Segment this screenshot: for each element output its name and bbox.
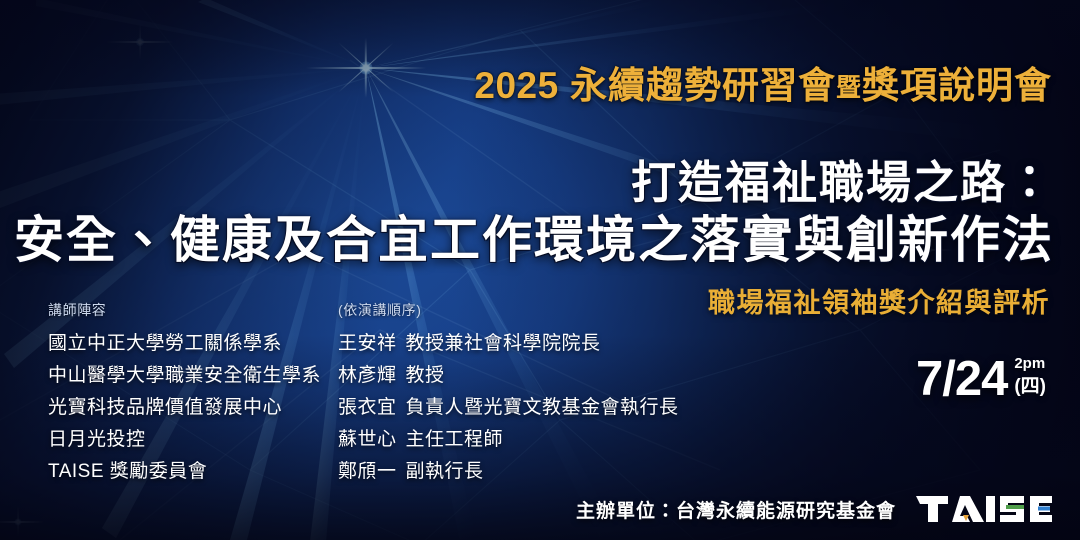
event-weekday: (四) bbox=[1014, 376, 1046, 398]
event-date: 7/24 bbox=[916, 355, 1007, 404]
roster-person-title: 教授兼社會科學院院長 bbox=[406, 333, 601, 354]
roster-org: TAISE 獎勵委員會 bbox=[48, 456, 338, 483]
roster-person-name: 張衣宜 bbox=[338, 397, 397, 418]
roster-person-title: 負責人暨光寶文教基金會執行長 bbox=[406, 397, 679, 418]
roster-person-name: 林彥輝 bbox=[338, 365, 397, 386]
roster-rows: 國立中正大學勞工關係學系 王安祥教授兼社會科學院院長 中山醫學大學職業安全衛生學… bbox=[48, 328, 748, 488]
footer: 主辦單位：台灣永續能源研究基金會 bbox=[576, 492, 1054, 526]
roster-orgs-label: 講師陣容 bbox=[48, 300, 338, 320]
roster-row: 國立中正大學勞工關係學系 王安祥教授兼社會科學院院長 bbox=[48, 328, 748, 360]
event-time: 2pm bbox=[1014, 356, 1045, 373]
roster-org: 光寶科技品牌價值發展中心 bbox=[48, 392, 338, 419]
roster-org: 中山醫學大學職業安全衛生學系 bbox=[48, 360, 338, 387]
event-title-name-part1: 永續趨勢研習會 bbox=[570, 65, 836, 106]
headline-line-2: 安全、健康及合宜工作環境之落實與創新作法 bbox=[0, 200, 1054, 272]
speaker-roster: 講師陣容 (依演講順序) 國立中正大學勞工關係學系 王安祥教授兼社會科學院院長 … bbox=[48, 300, 748, 488]
sub-headline: 職場福祉領袖獎介紹與評析 bbox=[708, 281, 1050, 320]
roster-row: 日月光投控 蘇世心主任工程師 bbox=[48, 424, 748, 456]
roster-person: 鄭頎一副執行長 bbox=[338, 456, 484, 483]
roster-row: TAISE 獎勵委員會 鄭頎一副執行長 bbox=[48, 456, 748, 488]
roster-row: 光寶科技品牌價值發展中心 張衣宜負責人暨光寶文教基金會執行長 bbox=[48, 392, 748, 424]
roster-person-title: 教授 bbox=[406, 365, 445, 386]
event-date-block: 7/24 2pm (四) bbox=[916, 355, 1046, 404]
roster-person-name: 蘇世心 bbox=[338, 429, 397, 450]
roster-person-name: 王安祥 bbox=[338, 333, 397, 354]
roster-org: 日月光投控 bbox=[48, 424, 338, 451]
roster-person-title: 主任工程師 bbox=[406, 429, 504, 450]
organizer-text: 主辦單位：台灣永續能源研究基金會 bbox=[576, 496, 896, 523]
roster-person: 王安祥教授兼社會科學院院長 bbox=[338, 328, 601, 355]
roster-people-label: (依演講順序) bbox=[338, 300, 748, 320]
event-title: 2025 永續趨勢研習會暨獎項說明會 bbox=[0, 66, 1052, 107]
roster-person-name: 鄭頎一 bbox=[338, 461, 397, 482]
roster-column-labels: 講師陣容 (依演講順序) bbox=[48, 300, 748, 320]
roster-person: 蘇世心主任工程師 bbox=[338, 424, 503, 451]
roster-person: 林彥輝教授 bbox=[338, 360, 445, 387]
roster-org: 國立中正大學勞工關係學系 bbox=[48, 328, 338, 355]
event-date-side: 2pm (四) bbox=[1014, 355, 1046, 397]
event-title-conjunction: 暨 bbox=[836, 74, 862, 102]
roster-person-title: 副執行長 bbox=[406, 461, 484, 482]
event-title-year: 2025 bbox=[474, 65, 558, 106]
logo-accent-blue bbox=[1038, 507, 1050, 511]
logo-accent-green bbox=[1006, 505, 1024, 509]
roster-row: 中山醫學大學職業安全衛生學系 林彥輝教授 bbox=[48, 360, 748, 392]
event-poster: 2025 永續趨勢研習會暨獎項說明會 打造福祉職場之路： 安全、健康及合宜工作環… bbox=[0, 0, 1080, 540]
taise-logo bbox=[914, 492, 1054, 526]
event-title-name-part2: 獎項說明會 bbox=[862, 65, 1052, 106]
roster-person: 張衣宜負責人暨光寶文教基金會執行長 bbox=[338, 392, 679, 419]
